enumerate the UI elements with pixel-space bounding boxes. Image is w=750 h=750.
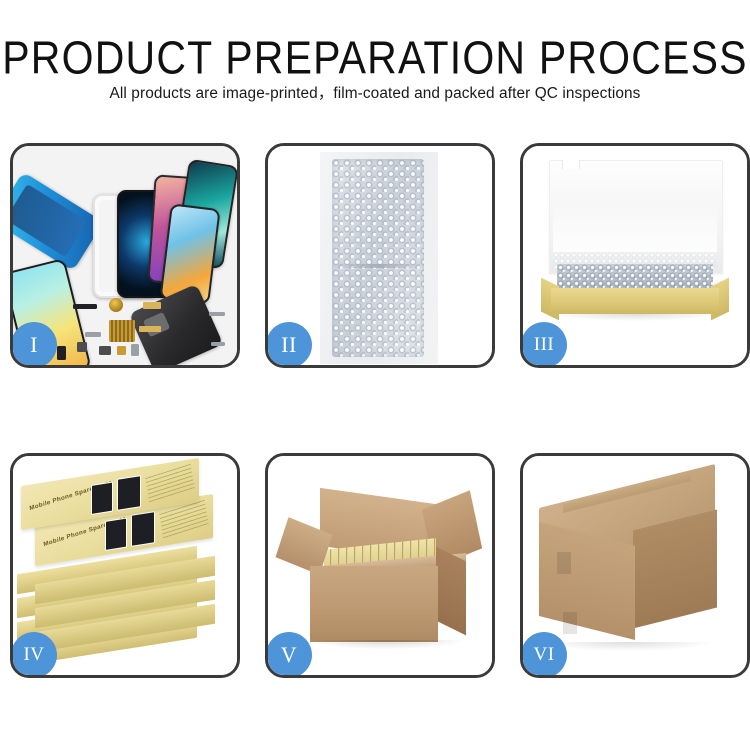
mailer-box-illustration: III bbox=[523, 146, 747, 365]
chip-part bbox=[99, 346, 111, 355]
sealed-carton-right-face bbox=[633, 510, 717, 629]
carton-side-face bbox=[436, 547, 466, 636]
bubble-wrapped-contents bbox=[557, 264, 713, 290]
page-subtitle: All products are image-printed，film-coat… bbox=[0, 84, 750, 104]
box-artwork-screen-1b bbox=[117, 475, 141, 511]
ribbon-cable-part bbox=[143, 302, 161, 309]
step-badge-6: VI bbox=[523, 632, 567, 675]
process-step-grid: I II III bbox=[10, 143, 740, 680]
copper-coil-part bbox=[109, 298, 123, 312]
carton-hand-hole-top bbox=[557, 552, 571, 574]
mailer-box-front bbox=[551, 288, 719, 314]
process-step-panel-5: V bbox=[265, 453, 495, 678]
mailer-drop-shadow bbox=[553, 314, 717, 321]
box-artwork-screen-2b bbox=[131, 511, 155, 547]
open-carton-illustration: V bbox=[268, 456, 492, 675]
battery-part bbox=[57, 346, 66, 360]
carton-front-face bbox=[310, 566, 438, 642]
process-step-panel-4: Mobile Phone Spare Parts Mobile Phone Sp… bbox=[10, 453, 240, 678]
sealed-carton-drop-shadow bbox=[543, 642, 713, 651]
process-step-panel-6: VI bbox=[520, 453, 750, 678]
speaker-part bbox=[73, 304, 97, 309]
carton-hand-hole-bottom bbox=[563, 612, 577, 634]
gold-contact-part bbox=[117, 346, 126, 355]
bubble-wrap-seam bbox=[332, 264, 424, 268]
metal-bracket-part bbox=[85, 332, 101, 337]
flex-cable-part bbox=[139, 326, 161, 332]
step-badge-4: IV bbox=[13, 632, 57, 675]
page-header: PRODUCT PREPARATION PROCESS All products… bbox=[0, 0, 750, 120]
process-step-panel-1: I bbox=[10, 143, 240, 368]
page-title: PRODUCT PREPARATION PROCESS bbox=[0, 32, 750, 84]
bubble-wrap-illustration: II bbox=[268, 146, 492, 365]
camera-module-part bbox=[77, 342, 87, 352]
screwdriver-tool bbox=[211, 342, 225, 346]
bubble-wrapped-item bbox=[332, 159, 424, 357]
box-artwork-screen-2a bbox=[105, 518, 127, 551]
phone-parts-illustration: I bbox=[13, 146, 237, 365]
step-badge-1: I bbox=[13, 322, 57, 365]
carton-drop-shadow bbox=[312, 640, 462, 649]
connector-grid-part bbox=[109, 320, 135, 342]
step-badge-2: II bbox=[268, 322, 312, 365]
tweezers-tool bbox=[209, 312, 225, 316]
box-spec-lines-1 bbox=[145, 464, 195, 503]
step-badge-3: III bbox=[523, 322, 567, 365]
screw-set-part bbox=[131, 344, 139, 356]
stacked-boxes-illustration: Mobile Phone Spare Parts Mobile Phone Sp… bbox=[13, 456, 237, 675]
process-step-panel-2: II bbox=[265, 143, 495, 368]
sealed-carton-illustration: VI bbox=[523, 456, 747, 675]
process-step-panel-3: III bbox=[520, 143, 750, 368]
box-artwork-screen-1a bbox=[91, 482, 113, 515]
step-badge-5: V bbox=[268, 632, 312, 675]
blue-screen-panel bbox=[13, 172, 104, 272]
